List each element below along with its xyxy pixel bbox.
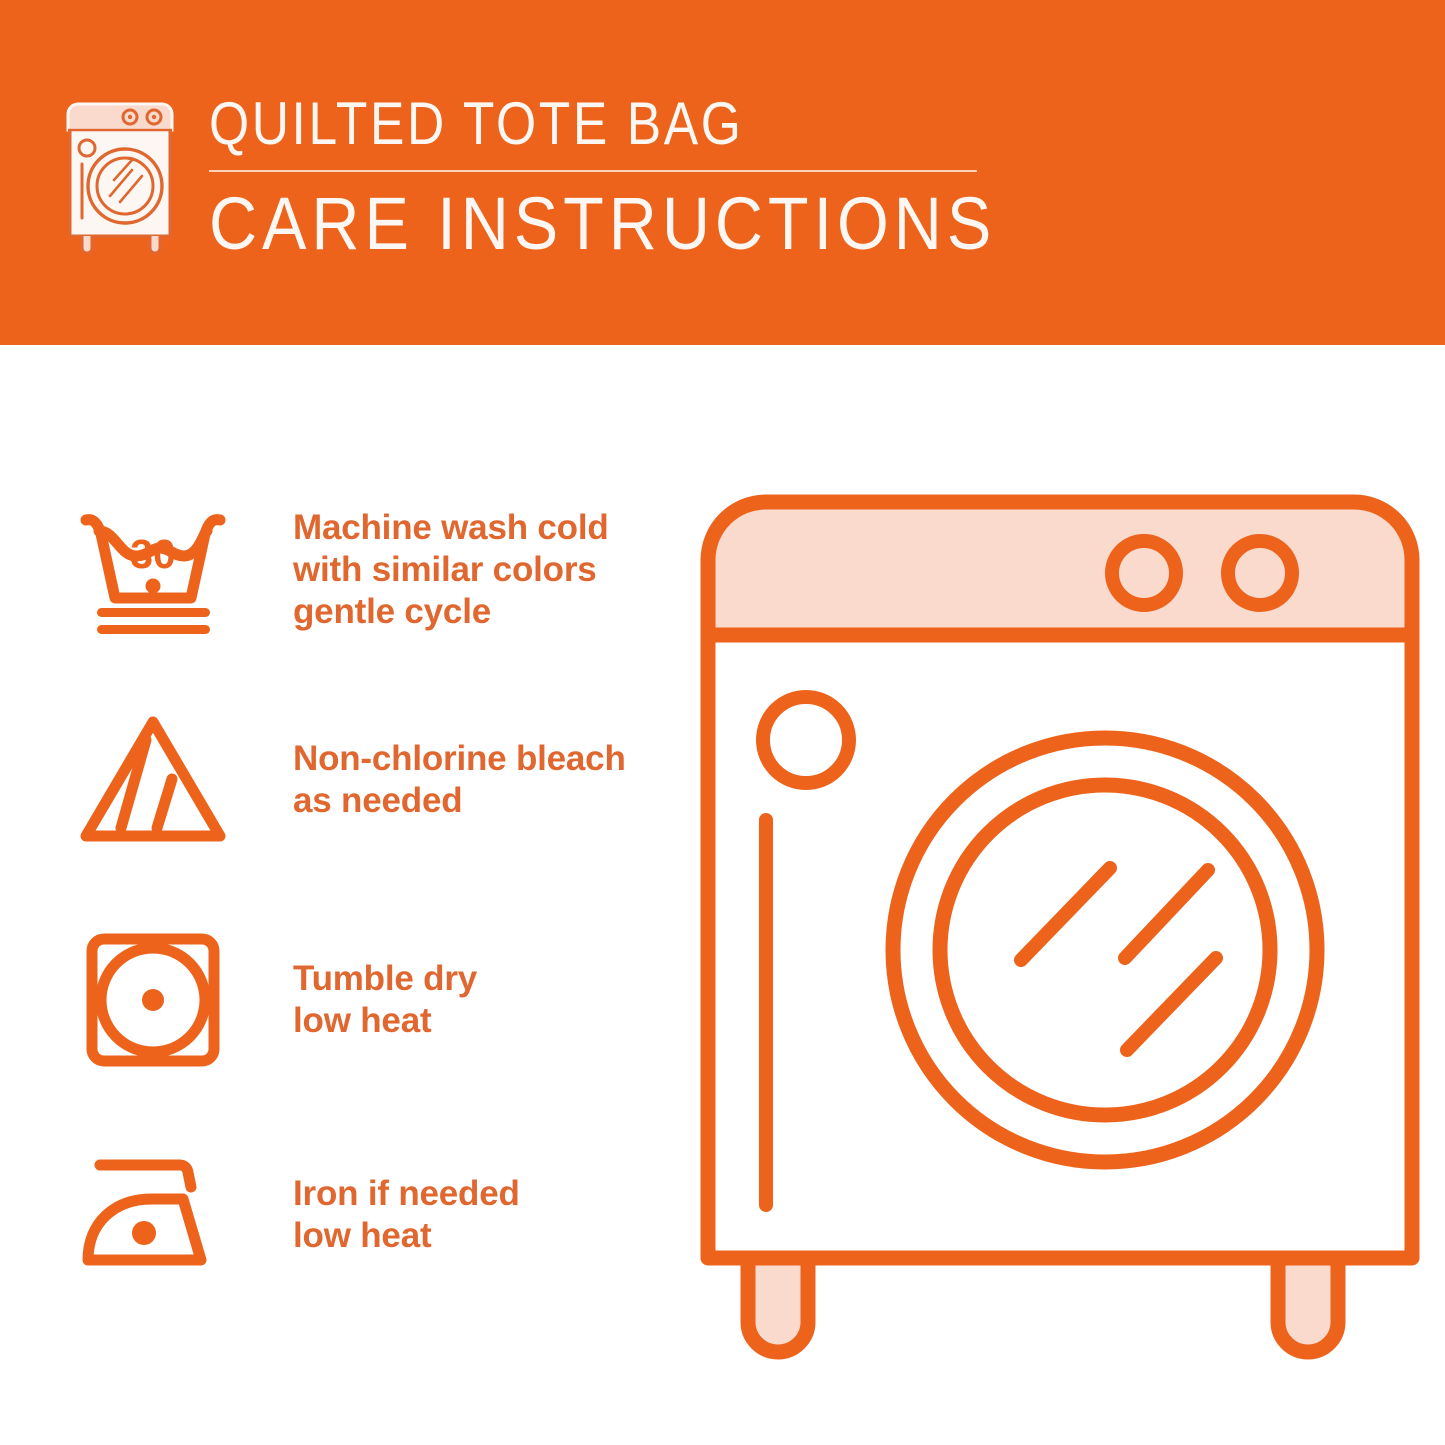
care-label: Non-chlorine bleach as needed (293, 738, 626, 822)
page-title: QUILTED TOTE BAG (209, 92, 743, 156)
page-subtitle: CARE INSTRUCTIONS (209, 186, 996, 262)
washing-machine-icon (62, 98, 184, 258)
care-label: Iron if needed low heat (293, 1173, 520, 1257)
care-row: Tumble dry low heat (68, 920, 688, 1080)
care-row: 30 Machine wash cold with similar colors… (68, 490, 688, 650)
leg-left (748, 1258, 808, 1352)
care-instruction-list: 30 Machine wash cold with similar colors… (0, 345, 700, 1445)
wash-tub-30-icon: 30 (68, 490, 238, 650)
washing-machine-illustration (700, 450, 1420, 1380)
title-divider (209, 170, 977, 172)
header-content: QUILTED TOTE BAG CARE INSTRUCTIONS (62, 92, 1084, 262)
care-label: Machine wash cold with similar colors ge… (293, 507, 609, 633)
iron-low-heat-icon (68, 1135, 238, 1295)
care-label: Tumble dry low heat (293, 958, 477, 1042)
wash-temperature-value: 30 (130, 531, 176, 577)
control-panel (708, 502, 1412, 635)
care-row: Non-chlorine bleach as needed (68, 700, 688, 860)
care-row: Iron if needed low heat (68, 1135, 688, 1295)
care-instructions-poster: QUILTED TOTE BAG CARE INSTRUCTIONS 30 (0, 0, 1445, 1445)
non-chlorine-bleach-triangle-icon (68, 700, 238, 860)
leg-right (1278, 1258, 1338, 1352)
header-banner: QUILTED TOTE BAG CARE INSTRUCTIONS (0, 0, 1445, 345)
header-titles: QUILTED TOTE BAG CARE INSTRUCTIONS (209, 92, 1084, 262)
tumble-dry-low-icon (68, 920, 238, 1080)
